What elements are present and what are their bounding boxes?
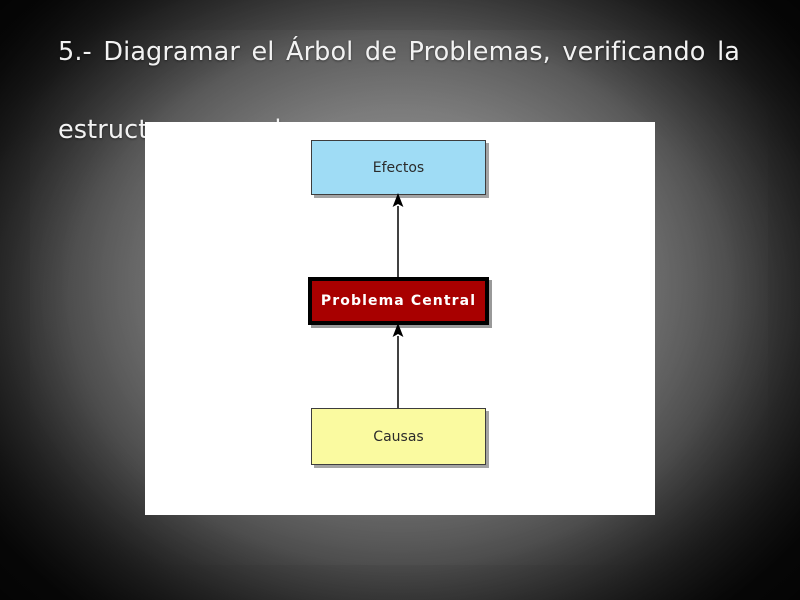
diagram-node-problema-central[interactable]: Problema Central: [308, 277, 489, 325]
diagram-node-problema-central-label: Problema Central: [321, 293, 476, 309]
diagram-node-causas-label: Causas: [373, 429, 423, 445]
arrow-causas-to-problema: [391, 322, 405, 412]
diagram-canvas: Efectos Problema Central Causas: [145, 122, 655, 515]
arrow-problema-to-efectos: [391, 192, 405, 282]
presentation-slide: 5.- Diagramar el Árbol de Problemas, ver…: [0, 0, 800, 600]
diagram-node-efectos[interactable]: Efectos: [311, 140, 486, 195]
page-title-line-1: 5.- Diagramar el Árbol de Problemas, ver…: [58, 33, 740, 111]
diagram-node-efectos-label: Efectos: [373, 160, 424, 176]
diagram-node-causas[interactable]: Causas: [311, 408, 486, 465]
problem-tree-diagram: Efectos Problema Central Causas: [145, 122, 655, 515]
